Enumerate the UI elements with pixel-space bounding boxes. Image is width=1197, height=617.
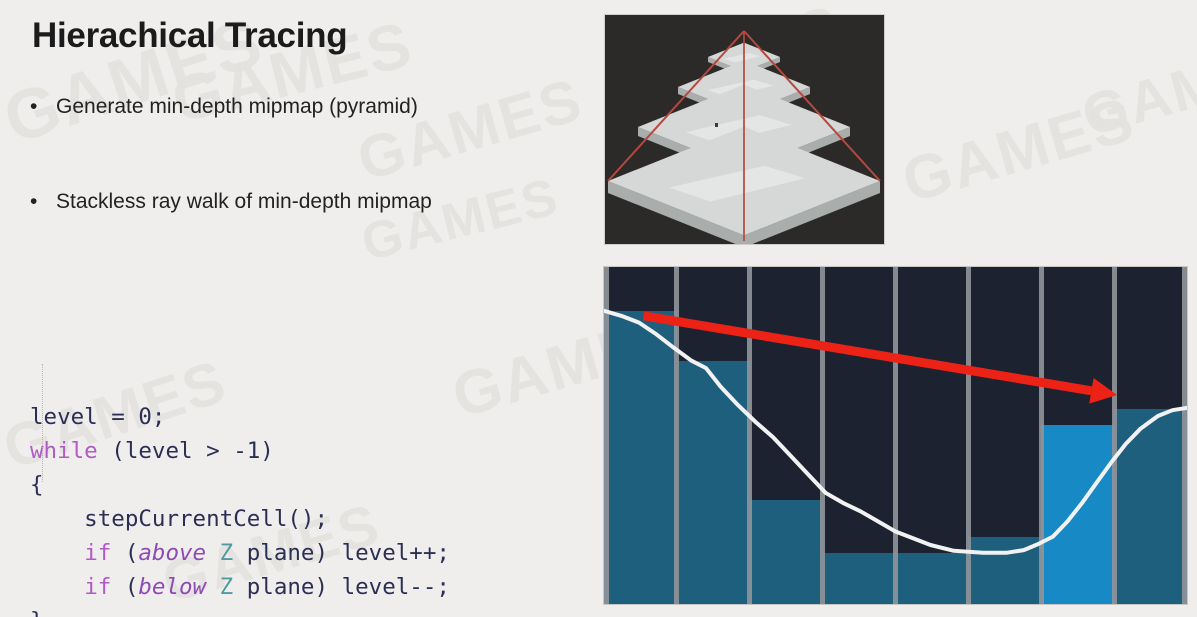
code-token: stepCurrentCell(); [30,506,328,532]
code-token [30,574,84,600]
page-title: Hierachical Tracing [32,16,347,56]
code-line: if (below Z plane) level--; [30,570,450,604]
code-token: level [30,404,98,430]
code-line: while (level > -1) [30,434,450,468]
code-token: 0 [138,404,152,430]
code-token: while [30,438,98,464]
code-token: Z [220,540,234,566]
code-token: plane) level++; [233,540,450,566]
pyramid-speck [715,123,718,127]
code-token [206,574,220,600]
code-token: ( [111,540,138,566]
code-token: > -1) [193,438,274,464]
watermark-text: GAMES [1075,27,1197,149]
code-line: { [30,468,450,502]
bullet-marker: • [30,190,56,213]
code-token: ; [152,404,166,430]
code-token: Z [220,574,234,600]
code-line: level = 0; [30,400,450,434]
code-token: plane) level--; [233,574,450,600]
ray-arrowhead [1089,378,1117,404]
code-token [30,540,84,566]
code-token: below [138,574,206,600]
watermark-text: GAMES [350,65,590,195]
code-line: stepCurrentCell(); [30,502,450,536]
bullet-label: Stackless ray walk of min-depth mipmap [56,190,432,214]
bullet-marker: • [30,95,56,118]
chart-overlay-svg [604,267,1187,604]
code-token: above [138,540,206,566]
code-token: if [84,540,111,566]
ray-arrow [644,316,1117,404]
code-token: if [84,574,111,600]
code-line: } [30,604,450,617]
bullet-item-1: • Stackless ray walk of min-depth mipmap [30,190,432,214]
code-line: if (above Z plane) level++; [30,536,450,570]
code-lines: level = 0;while (level > -1){ stepCurren… [30,400,450,617]
code-token: level [125,438,193,464]
code-block: level = 0;while (level > -1){ stepCurren… [30,298,450,617]
code-token: = [98,404,139,430]
code-token: ( [111,574,138,600]
mipmap-pyramid-svg [605,15,884,244]
code-token: } [30,608,44,617]
code-indent-guide [42,364,44,482]
code-token [206,540,220,566]
bullet-item-0: • Generate min-depth mipmap (pyramid) [30,95,418,119]
code-token: ( [98,438,125,464]
ray-line [644,316,1092,391]
terrain-curve [604,311,1187,553]
watermark-text: GAMES [356,167,565,274]
watermark-text: GAMES [895,84,1143,218]
slide-canvas: GAMESGAMESGAMESGAMESGAMESGAMESGAMESGAMES… [0,0,1197,617]
bullet-label: Generate min-depth mipmap (pyramid) [56,95,418,119]
mipmap-pyramid-figure [604,14,885,245]
min-depth-mipmap-chart [603,266,1188,605]
